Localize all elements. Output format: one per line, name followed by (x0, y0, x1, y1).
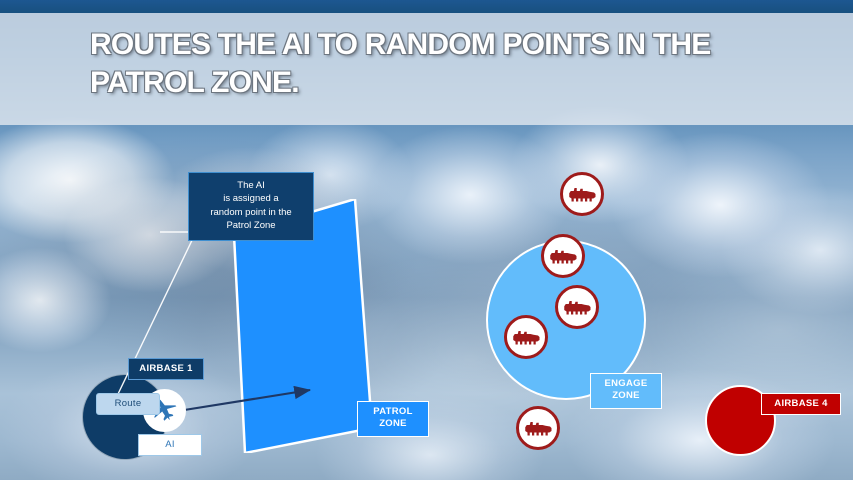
armored-vehicle-icon (567, 184, 597, 204)
ai-label: AI (138, 434, 202, 456)
callout-line-2: is assigned a (195, 192, 307, 205)
engage-zone-label-line-2: ZONE (591, 390, 661, 402)
armored-vehicle-icon (548, 246, 578, 266)
armored-vehicle-icon (523, 418, 553, 438)
slide-title: ROUTES THE AI TO RANDOM POINTS IN THE PA… (90, 26, 790, 103)
enemy-marker[interactable] (541, 234, 585, 278)
engage-zone-label: ENGAGE ZONE (590, 373, 662, 409)
engage-zone-label-line-1: ENGAGE (591, 378, 661, 390)
presentation-slide: ROUTES THE AI TO RANDOM POINTS IN THE PA… (0, 0, 853, 480)
callout-line-1: The AI (195, 179, 307, 192)
enemy-marker[interactable] (516, 406, 560, 450)
airbase-1-label: AIRBASE 1 (128, 358, 204, 380)
callout-box: The AI is assigned a random point in the… (188, 172, 314, 241)
armored-vehicle-icon (511, 327, 541, 347)
enemy-marker[interactable] (555, 285, 599, 329)
callout-line-3: random point in the (195, 206, 307, 219)
enemy-marker[interactable] (504, 315, 548, 359)
enemy-marker[interactable] (560, 172, 604, 216)
patrol-zone-label-line-2: ZONE (358, 418, 428, 430)
patrol-zone-label: PATROL ZONE (357, 401, 429, 437)
armored-vehicle-icon (562, 297, 592, 317)
top-accent-strip (0, 0, 853, 13)
patrol-zone-label-line-1: PATROL (358, 406, 428, 418)
route-label: Route (96, 393, 160, 415)
airbase-4-label: AIRBASE 4 (761, 393, 841, 415)
callout-line-4: Patrol Zone (195, 219, 307, 232)
